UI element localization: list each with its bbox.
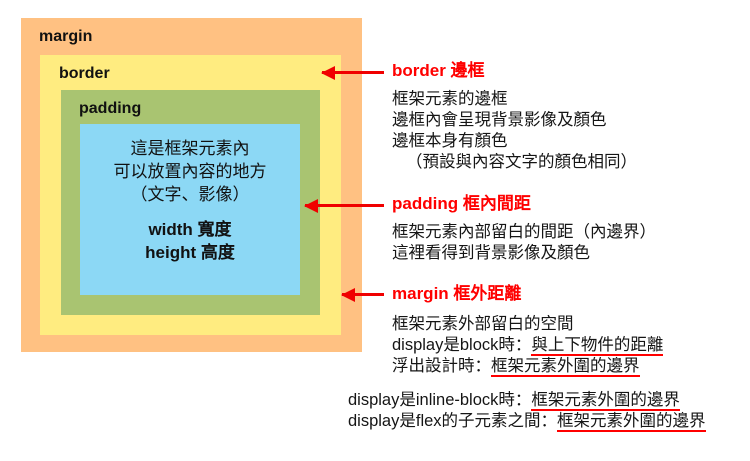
margin-note-line-2-prefix: display是block時：: [392, 336, 531, 354]
content-line-3: （文字、影像）: [80, 183, 300, 206]
padding-note-body: 框架元素內部留白的間距（內邊界） 這裡看得到背景影像及顏色: [392, 222, 656, 264]
border-band: border padding 這是框架元素內 可以放置內容的地方 （文字、影像）…: [40, 55, 341, 335]
content-line-1: 這是框架元素內: [80, 137, 300, 160]
border-note-heading: border 邊框: [392, 62, 485, 79]
border-note-line-2: 邊框內會呈現背景影像及顏色: [392, 110, 637, 131]
margin-note-line-2-underlined: 與上下物件的距離: [531, 336, 663, 356]
margin-note-line-1: 框架元素外部留白的空間: [392, 314, 663, 335]
content-width-label: width 寬度: [80, 218, 300, 241]
padding-note-line-2: 這裡看得到背景影像及顏色: [392, 243, 656, 264]
content-line-2: 可以放置內容的地方: [80, 160, 300, 183]
padding-band: padding 這是框架元素內 可以放置內容的地方 （文字、影像） width …: [61, 90, 320, 315]
padding-band-label: padding: [79, 101, 141, 117]
border-note-line-3: 邊框本身有顏色: [392, 131, 637, 152]
padding-note-line-1: 框架元素內部留白的間距（內邊界）: [392, 222, 656, 243]
margin-note-extra: display是inline-block時：框架元素外圍的邊界 display是…: [348, 390, 706, 432]
border-band-label: border: [59, 66, 110, 82]
margin-note-line-3: 浮出設計時：框架元素外圍的邊界: [392, 356, 663, 377]
border-note-line-1: 框架元素的邊框: [392, 89, 637, 110]
content-height-label: height 高度: [80, 241, 300, 264]
margin-note-line-5-underlined: 框架元素外圍的邊界: [557, 412, 706, 432]
margin-band-label: margin: [39, 29, 92, 45]
border-callout-arrow: [322, 71, 384, 74]
margin-note-line-5: display是flex的子元素之間：框架元素外圍的邊界: [348, 411, 706, 432]
border-note-body: 框架元素的邊框 邊框內會呈現背景影像及顏色 邊框本身有顏色 （預設與內容文字的顏…: [392, 89, 637, 173]
padding-callout-arrow: [305, 204, 384, 207]
margin-note-line-5-prefix: display是flex的子元素之間：: [348, 412, 557, 430]
padding-note-heading: padding 框內間距: [392, 195, 531, 212]
margin-note-line-4-prefix: display是inline-block時：: [348, 391, 531, 409]
margin-callout-arrow: [342, 293, 384, 296]
box-model-diagram: margin border padding 這是框架元素內 可以放置內容的地方 …: [21, 18, 362, 352]
border-note-line-4: （預設與內容文字的顏色相同）: [392, 152, 637, 173]
margin-note-heading: margin 框外距離: [392, 285, 521, 302]
margin-note-line-2: display是block時：與上下物件的距離: [392, 335, 663, 356]
margin-note-line-3-prefix: 浮出設計時：: [392, 357, 491, 375]
margin-note-body: 框架元素外部留白的空間 display是block時：與上下物件的距離 浮出設計…: [392, 314, 663, 377]
margin-note-line-4-underlined: 框架元素外圍的邊界: [531, 391, 680, 411]
content-band: 這是框架元素內 可以放置內容的地方 （文字、影像） width 寬度 heigh…: [80, 124, 300, 295]
margin-note-line-4: display是inline-block時：框架元素外圍的邊界: [348, 390, 706, 411]
margin-note-line-3-underlined: 框架元素外圍的邊界: [491, 357, 640, 377]
